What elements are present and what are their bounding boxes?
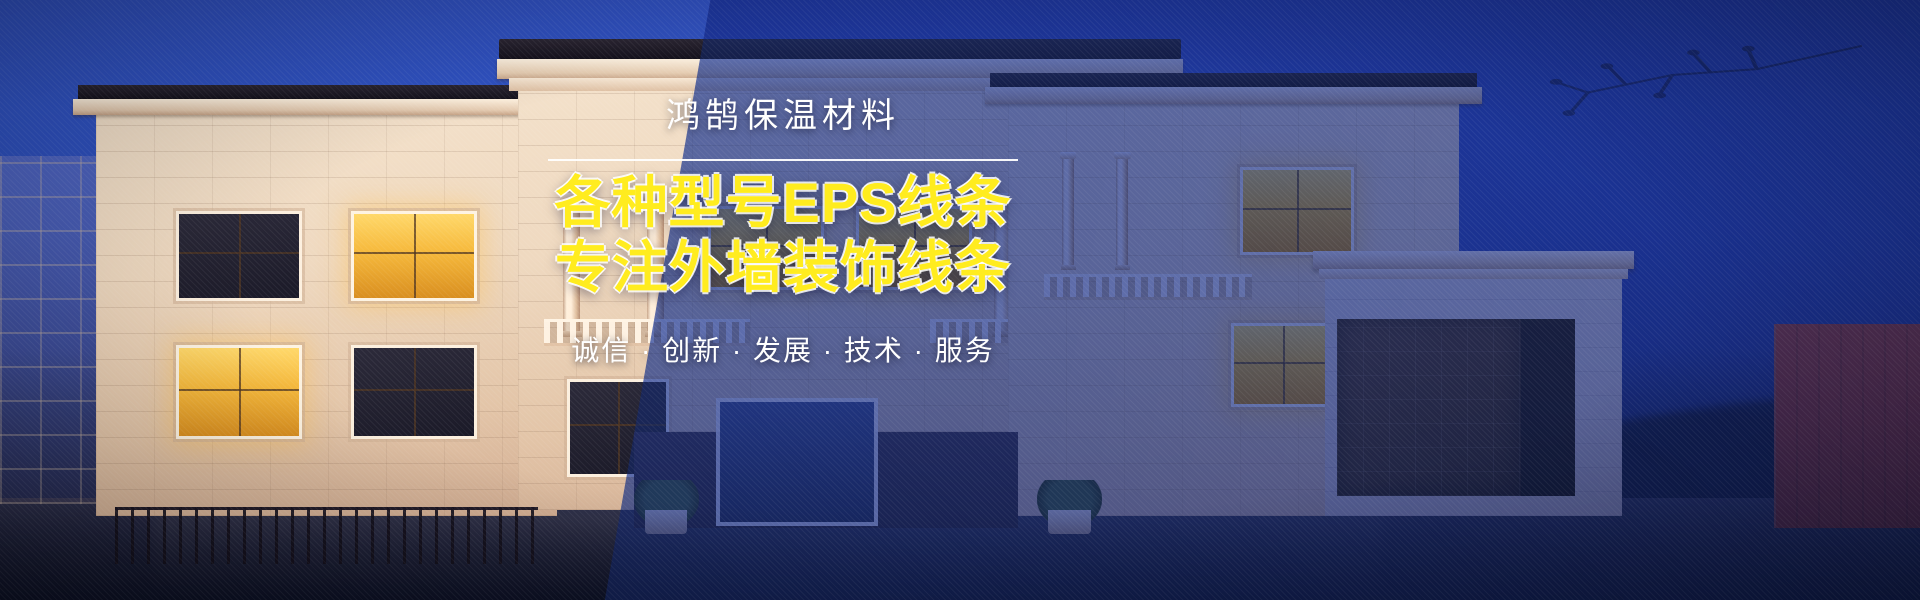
left-wing-cornice <box>73 99 580 116</box>
headline: 各种型号EPS线条 专注外墙装饰线条 <box>548 171 1018 301</box>
brand-name: 鸿鹄保温材料 <box>548 96 1018 137</box>
window-lit <box>354 214 474 298</box>
iron-fence <box>115 507 537 564</box>
banner-copy-block: 鸿鹄保温材料 各种型号EPS线条 专注外墙装饰线条 诚信 · 创新 · 发展 ·… <box>548 96 1018 369</box>
divider-rule <box>548 159 1018 161</box>
villa-left-wing <box>96 96 557 516</box>
headline-line-2: 专注外墙装饰线条 <box>548 236 1018 301</box>
tagline: 诚信 · 创新 · 发展 · 技术 · 服务 <box>548 329 1018 369</box>
window <box>354 348 474 436</box>
left-wing-roof <box>78 85 576 99</box>
window-lit <box>179 348 299 436</box>
hero-banner: 鸿鹄保温材料 各种型号EPS线条 专注外墙装饰线条 诚信 · 创新 · 发展 ·… <box>0 0 1920 600</box>
window <box>179 214 299 298</box>
headline-line-1: 各种型号EPS线条 <box>554 171 1011 234</box>
